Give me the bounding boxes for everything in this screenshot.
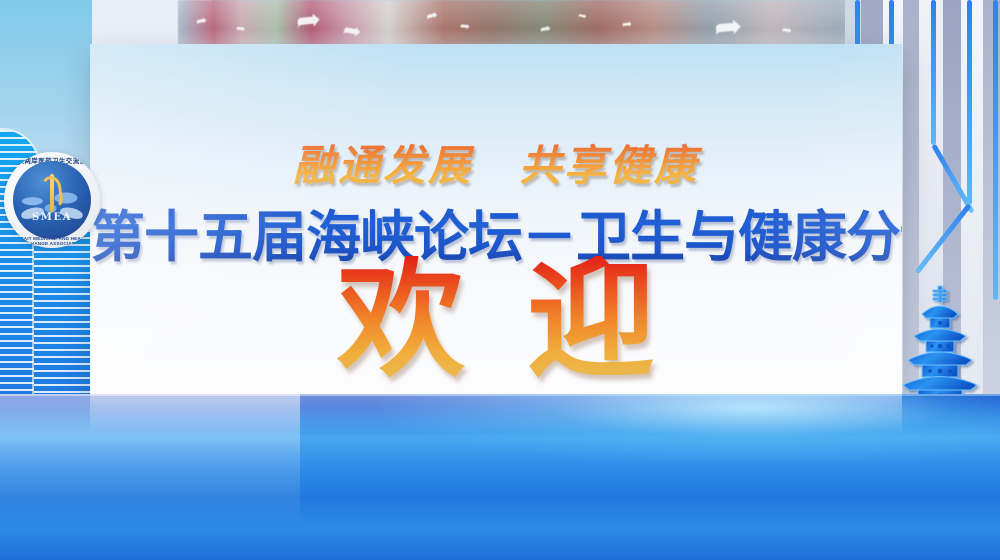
egret-icon: ➦ <box>235 23 246 35</box>
slogan-right: 共享健康 <box>519 141 699 190</box>
egret-icon: ➦ <box>295 5 323 37</box>
stage-floor <box>0 394 1000 560</box>
floor-left-reflection <box>0 394 300 560</box>
egret-icon: ➦ <box>539 21 552 36</box>
egret-icon: ➦ <box>459 20 470 33</box>
egret-icon: ➦ <box>621 18 632 31</box>
egret-icon: ➦ <box>577 11 588 23</box>
egret-icon: ➦ <box>195 13 208 28</box>
accent-line <box>931 0 936 145</box>
screenshot-stage: ➦ ➦ ➦ ➦ ➦ ➦ ➦ ➦ ➦ ➦ ➦ 融通发展共享健康 第十五届海峡论坛 <box>0 0 1000 560</box>
egret-icon: ➦ <box>781 23 793 36</box>
backdrop-slogan: 融通发展共享健康 <box>90 132 902 193</box>
smea-logo: 海峡两岸医药卫生交流协会 SMEA STRAIT MEDICINE AND HE… <box>4 152 100 248</box>
logo-english-ring-text: STRAIT MEDICINE AND HEALTH EXCHANGE ASSO… <box>4 236 100 246</box>
egret-icon: ➦ <box>713 9 744 45</box>
logo-acronym: SMEA <box>4 212 100 223</box>
slogan-left: 融通发展 <box>293 141 473 190</box>
egret-icon: ➦ <box>424 7 439 23</box>
accent-line <box>967 0 972 205</box>
backdrop-welcome-text: 欢迎 <box>90 256 902 384</box>
egret-icon: ➦ <box>341 19 363 44</box>
welcome-char-1: 欢 <box>337 245 465 395</box>
background-photo-strip: ➦ ➦ ➦ ➦ ➦ ➦ ➦ ➦ ➦ ➦ ➦ <box>178 0 878 48</box>
accent-line <box>993 0 998 300</box>
welcome-char-2: 迎 <box>527 245 655 395</box>
